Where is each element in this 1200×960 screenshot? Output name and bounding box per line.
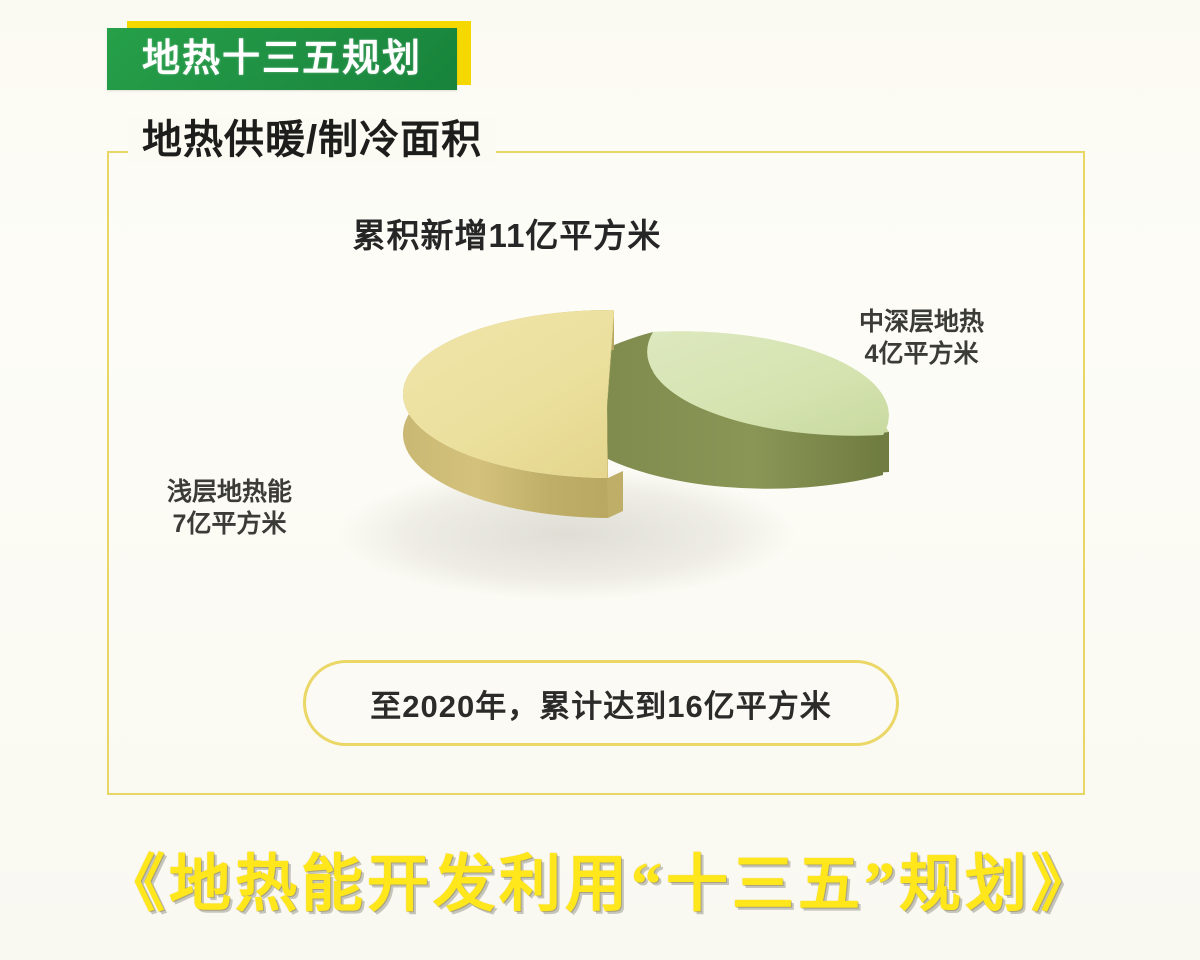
pie-label-green: 中深层地热 4亿平方米 <box>859 306 984 370</box>
pie-label-yellow-value: 7亿平方米 <box>167 508 292 540</box>
chart-area: 累积新增11亿平方米 <box>107 151 1085 795</box>
header-badge: 地热十三五规划 <box>107 21 472 91</box>
pie-slice-yellow-cut-a <box>608 471 623 518</box>
badge-title-text: 地热十三五规划 <box>142 40 422 78</box>
pie-label-green-name: 中深层地热 <box>859 306 984 338</box>
pie-label-yellow-name: 浅层地热能 <box>167 476 292 508</box>
summary-note-box: 至2020年，累计达到16亿平方米 <box>303 660 899 746</box>
summary-note-text: 至2020年，累计达到16亿平方米 <box>370 681 831 726</box>
chart-title: 累积新增11亿平方米 <box>107 209 907 257</box>
document-caption: 《地热能开发利用“十三五”规划》 <box>0 833 1200 923</box>
pie-label-green-value: 4亿平方米 <box>859 338 984 370</box>
pie-chart-3d <box>317 276 917 606</box>
pie-label-yellow: 浅层地热能 7亿平方米 <box>167 476 292 540</box>
badge-green-plate: 地热十三五规划 <box>107 28 457 90</box>
